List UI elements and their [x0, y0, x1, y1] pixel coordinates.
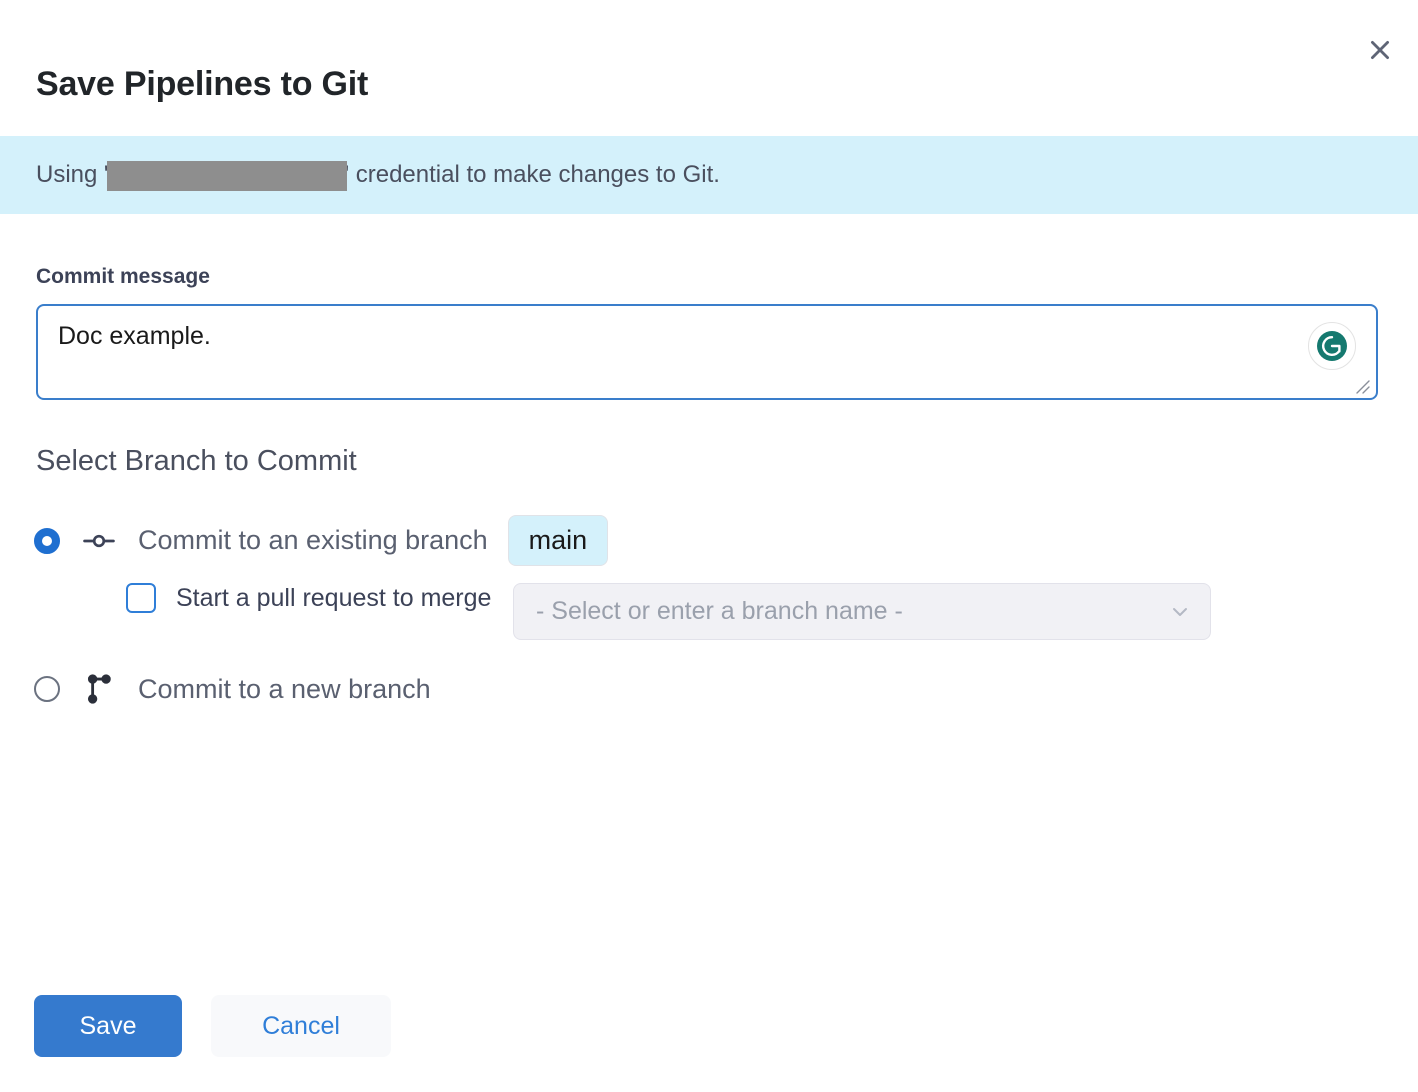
pull-request-checkbox[interactable] [126, 583, 156, 613]
pull-request-branch-select[interactable]: - Select or enter a branch name - [513, 583, 1211, 640]
close-icon [1367, 37, 1393, 63]
cancel-button[interactable]: Cancel [211, 995, 391, 1057]
option-new-branch-label: Commit to a new branch [138, 674, 431, 705]
credential-info-bar: Using "" credential to make changes to G… [0, 136, 1418, 214]
radio-existing-branch[interactable] [34, 528, 60, 554]
commit-message-input[interactable] [36, 304, 1378, 400]
grammarly-icon[interactable] [1308, 322, 1356, 370]
option-commit-new-branch[interactable]: Commit to a new branch [34, 672, 431, 706]
credential-info-text: Using "" credential to make changes to G… [0, 160, 720, 190]
commit-message-field [36, 304, 1378, 400]
info-prefix: Using " [36, 161, 113, 189]
pull-request-row[interactable]: Start a pull request to merge [126, 583, 491, 613]
save-pipelines-dialog: Save Pipelines to Git Using "" credentia… [0, 0, 1418, 1092]
option-commit-existing-branch[interactable]: Commit to an existing branch main [34, 515, 608, 566]
pull-request-label: Start a pull request to merge [176, 584, 491, 613]
redacted-credential-name [107, 161, 347, 191]
close-button[interactable] [1360, 30, 1400, 70]
git-commit-icon [82, 524, 116, 558]
chevron-down-icon [1168, 600, 1192, 624]
dialog-title: Save Pipelines to Git [36, 66, 368, 103]
save-button[interactable]: Save [34, 995, 182, 1057]
radio-new-branch[interactable] [34, 676, 60, 702]
git-branch-icon [82, 672, 116, 706]
commit-message-label: Commit message [36, 265, 210, 289]
option-existing-branch-label: Commit to an existing branch [138, 525, 488, 556]
dialog-footer: Save Cancel [34, 995, 391, 1057]
current-branch-badge[interactable]: main [508, 515, 609, 566]
pull-request-branch-select-text: - Select or enter a branch name - [536, 597, 1168, 626]
info-suffix: " credential to make changes to Git. [341, 161, 720, 189]
select-branch-heading: Select Branch to Commit [36, 445, 357, 478]
